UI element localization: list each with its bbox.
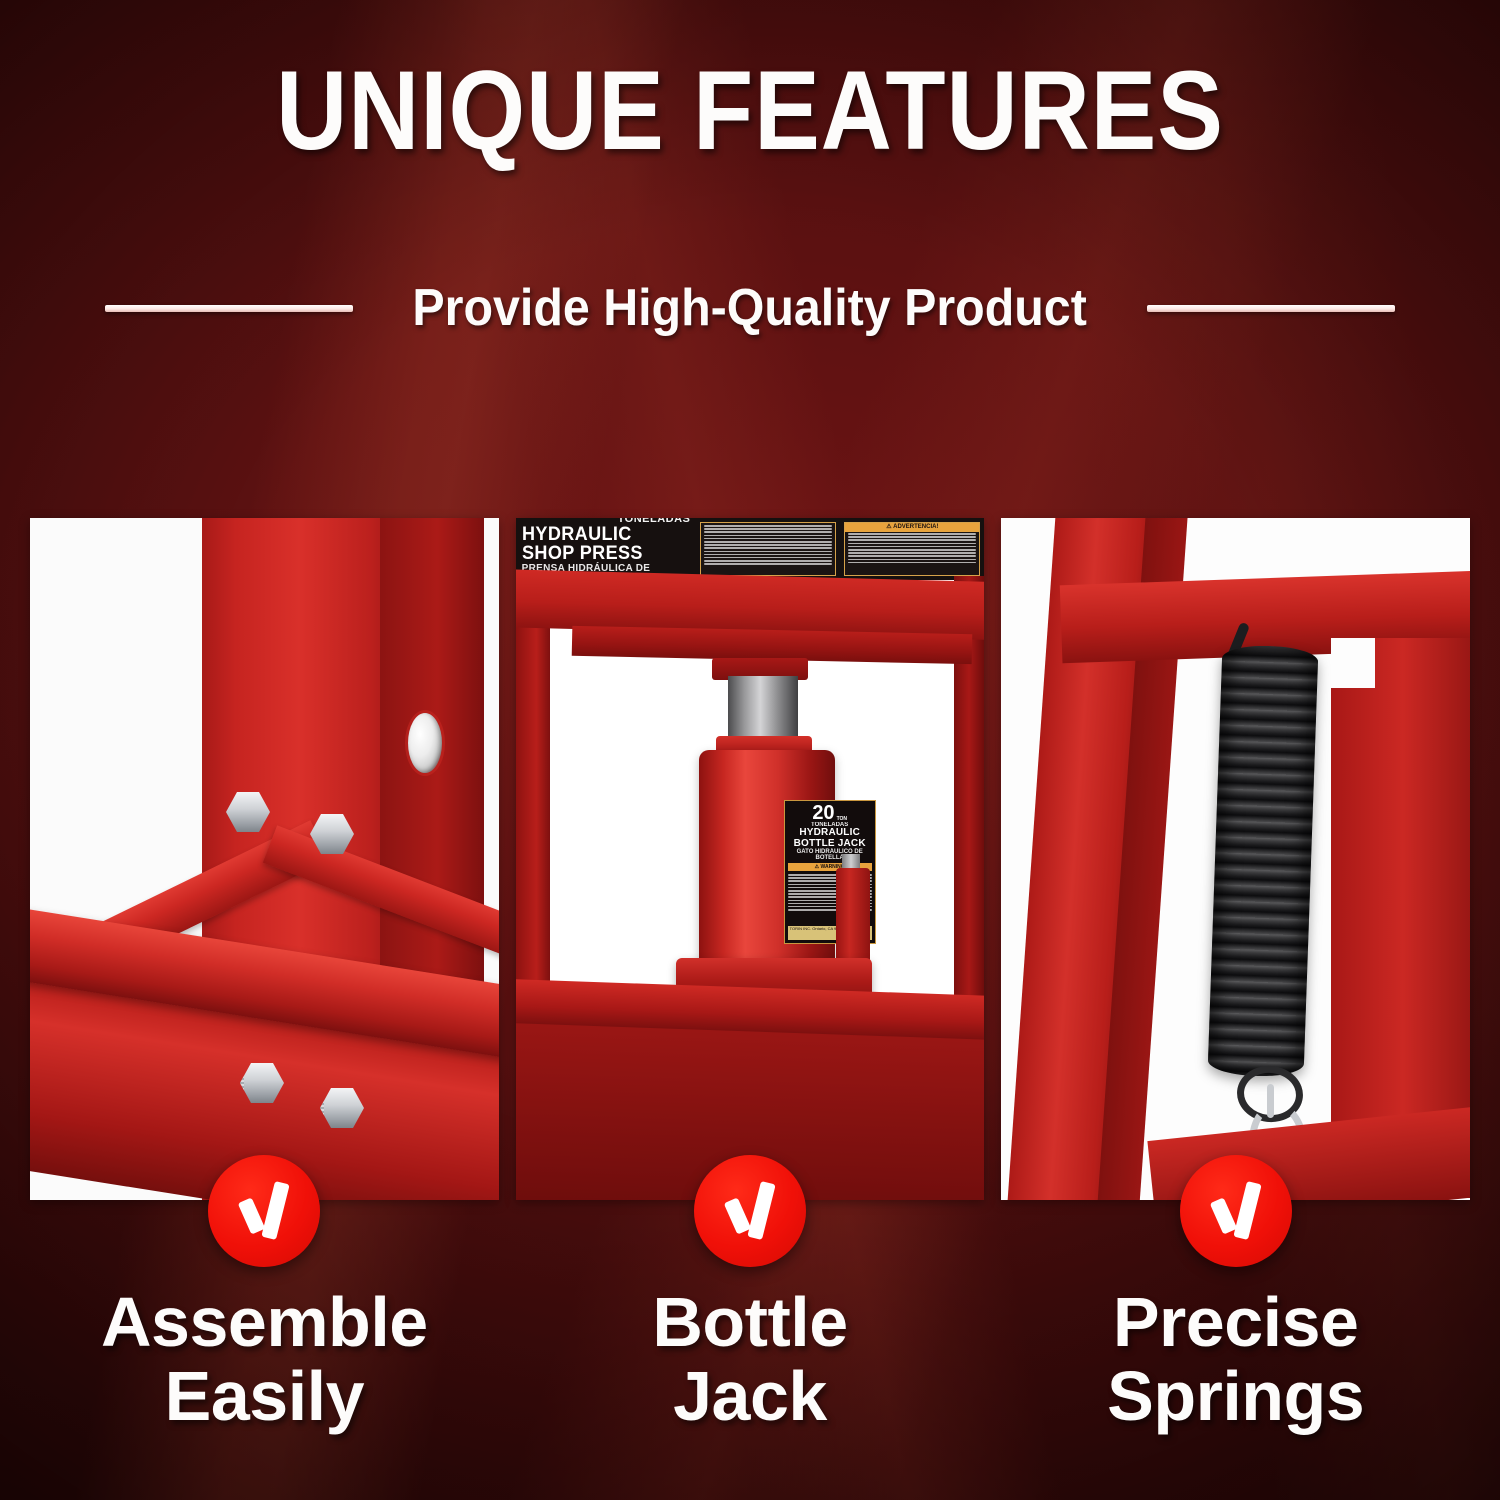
- press-warning-heading: ⚠ ADVERTENCIA!: [845, 523, 979, 532]
- caption-line-1: Precise: [1107, 1285, 1364, 1359]
- check-icon: [237, 1183, 291, 1239]
- feature-caption-bottle-jack: Bottle Jack: [516, 1155, 985, 1455]
- caption-line-1: Assemble: [101, 1285, 428, 1359]
- check-badge: [694, 1155, 806, 1267]
- feature-caption-assemble-easily: Assemble Easily: [30, 1155, 499, 1455]
- jack-label-tonnage-number: 20: [812, 804, 834, 822]
- jack-label-tonnage-row: 20 TON: [788, 804, 872, 822]
- caption-line-2: Springs: [1107, 1359, 1364, 1433]
- plate-notch: [1331, 638, 1375, 688]
- caption-line-1: Bottle: [652, 1285, 847, 1359]
- caption-text: Assemble Easily: [101, 1285, 428, 1433]
- feature-image-row: TONELADAS HYDRAULIC SHOP PRESS PRENSA HI…: [30, 518, 1470, 1200]
- press-label-line1: HYDRAULIC: [522, 525, 682, 544]
- coil-return-spring: [1208, 644, 1319, 1077]
- microtext-lines: [704, 525, 832, 565]
- check-icon: [1209, 1183, 1263, 1239]
- divider-rule-left: [105, 305, 353, 312]
- product-feature-image: UNIQUE FEATURES Provide High-Quality Pro…: [0, 0, 1500, 1500]
- feature-photo-bottle-jack: TONELADAS HYDRAULIC SHOP PRESS PRENSA HI…: [516, 518, 985, 1200]
- feature-photo-assemble-easily: [30, 518, 499, 1200]
- page-title: UNIQUE FEATURES: [90, 52, 1410, 170]
- page-subtitle: Provide High-Quality Product: [413, 278, 1087, 338]
- divider-rule-right: [1147, 305, 1395, 312]
- press-label-instructions-en: [700, 522, 836, 576]
- caption-line-2: Easily: [101, 1359, 428, 1433]
- feature-caption-row: Assemble Easily Bottle Jack Precise Spri…: [30, 1155, 1470, 1455]
- check-badge: [208, 1155, 320, 1267]
- check-icon: [723, 1183, 777, 1239]
- press-label-warning-es: ⚠ ADVERTENCIA!: [844, 522, 980, 576]
- press-label-line2: SHOP PRESS: [522, 544, 682, 563]
- subtitle-row: Provide High-Quality Product: [0, 278, 1500, 338]
- check-badge: [1180, 1155, 1292, 1267]
- caption-text: Precise Springs: [1107, 1285, 1364, 1433]
- pin-hole: [408, 713, 442, 773]
- caption-text: Bottle Jack: [652, 1285, 847, 1433]
- caption-line-2: Jack: [652, 1359, 847, 1433]
- feature-photo-precise-springs: [1001, 518, 1470, 1200]
- feature-caption-precise-springs: Precise Springs: [1001, 1155, 1470, 1455]
- jack-pump-cylinder: [836, 868, 870, 964]
- hydraulic-ram: [728, 676, 798, 742]
- microtext-lines: [848, 533, 976, 563]
